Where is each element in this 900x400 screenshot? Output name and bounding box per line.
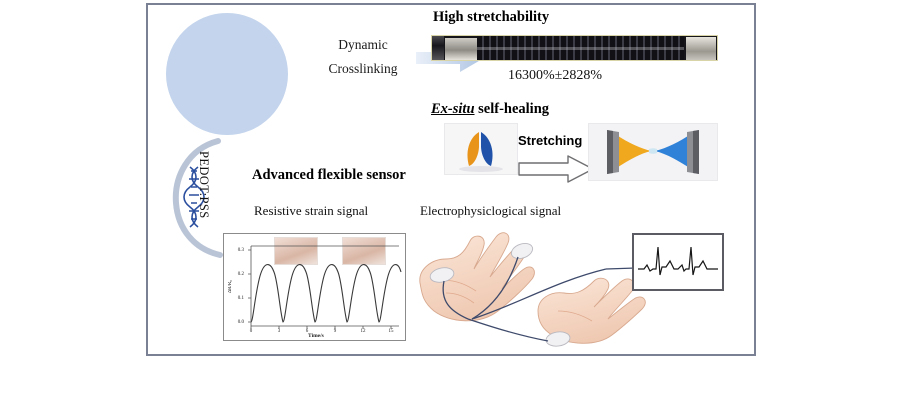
- graphical-abstract: Dynamic Crosslinking High stretchability…: [0, 0, 900, 400]
- stretching-timelapse-photo: [431, 35, 718, 61]
- dynamic-crosslinking-label: Dynamic Crosslinking: [303, 33, 423, 80]
- chart-plot-svg: [224, 234, 405, 340]
- ecg-trace-svg: [634, 235, 722, 289]
- self-healing-heading-italic: Ex-situ: [431, 101, 475, 117]
- high-stretchability-heading: High stretchability: [433, 9, 549, 26]
- stretchability-value: 16300%±2828%: [508, 68, 602, 84]
- dynamic-label-line2: Crosslinking: [303, 57, 423, 81]
- resistive-strain-signal-label: Resistive strain signal: [254, 203, 368, 219]
- figure-frame: Dynamic Crosslinking High stretchability…: [146, 3, 756, 356]
- stretching-arrow-icon: [518, 155, 594, 183]
- ecg-signal-box: [632, 233, 724, 291]
- resistive-strain-chart: ΔR/R₀ Time/s 0.3 0.2 0.1 0.0 0 3 6 9 12 …: [223, 233, 406, 341]
- pedot-pss-label: PEDOT:PSS: [196, 151, 211, 219]
- stretching-label: Stretching: [518, 133, 582, 148]
- hands-electrode-illustration: [406, 219, 666, 357]
- stretched-sample-photo: [588, 123, 718, 181]
- sample-end-left: [445, 38, 477, 60]
- polymer-network-illustration: [166, 13, 288, 135]
- circle-background: [166, 13, 288, 135]
- timelapse-glare: [477, 47, 684, 50]
- electrophysiological-signal-label: Electrophysiclogical signal: [420, 203, 561, 219]
- self-healing-heading-rest: self-healing: [475, 101, 550, 117]
- clamp-left: [432, 36, 444, 60]
- self-healing-heading: Ex-situ self-healing: [431, 101, 549, 118]
- clamp-right: [686, 37, 716, 61]
- self-healing-samples-photo: [444, 123, 518, 175]
- dynamic-label-line1: Dynamic: [303, 33, 423, 57]
- advanced-flexible-sensor-heading: Advanced flexible sensor: [252, 167, 406, 184]
